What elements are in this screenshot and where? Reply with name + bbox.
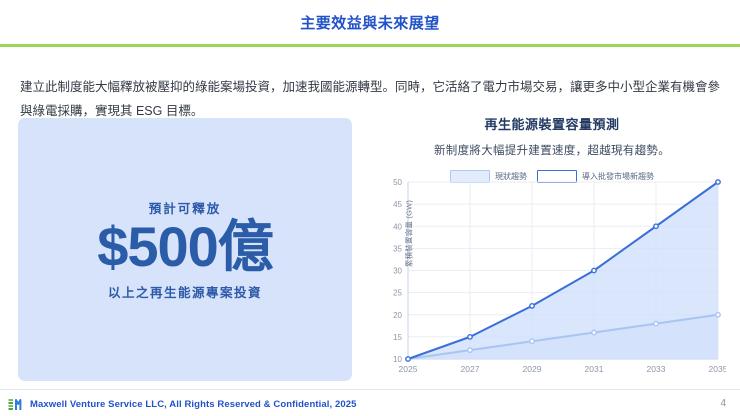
svg-text:45: 45 — [393, 200, 402, 209]
x-tick-labels: 202520272029203120332035 — [399, 364, 726, 374]
stat-value: $500億 — [97, 218, 273, 275]
page-number: 4 — [720, 398, 726, 409]
svg-text:30: 30 — [393, 267, 402, 276]
chart-panel: 再生能源裝置容量預測 新制度將大幅提升建置速度，超越現有趨勢。 現狀趨勢 導入批… — [378, 114, 726, 386]
svg-text:15: 15 — [393, 333, 402, 342]
footer-divider — [0, 389, 740, 390]
svg-text:2027: 2027 — [461, 364, 480, 374]
page-title: 主要效益與未來展望 — [0, 12, 740, 33]
svg-text:2029: 2029 — [523, 364, 542, 374]
svg-text:50: 50 — [393, 178, 402, 187]
company-logo-icon — [8, 398, 24, 412]
stat-caption-label: 以上之再生能源專案投資 — [108, 282, 262, 301]
svg-text:2035: 2035 — [709, 364, 726, 374]
chart-plot-area: 累積裝置容量 (GW) 101520253035404550 202520272… — [378, 176, 726, 381]
svg-text:40: 40 — [393, 222, 402, 231]
svg-text:35: 35 — [393, 244, 402, 253]
line-chart-svg: 101520253035404550 202520272029203120332… — [378, 176, 726, 381]
chart-title: 再生能源裝置容量預測 — [378, 114, 726, 133]
svg-text:2033: 2033 — [647, 364, 666, 374]
title-divider — [0, 44, 740, 47]
y-axis-title: 累積裝置容量 (GW) — [404, 179, 415, 289]
chart-subtitle: 新制度將大幅提升建置速度，超越現有趨勢。 — [378, 142, 726, 158]
svg-text:25: 25 — [393, 289, 402, 298]
highlight-stat-card: 預計可釋放 $500億 以上之再生能源專案投資 — [18, 118, 352, 381]
svg-text:2031: 2031 — [585, 364, 604, 374]
footer-copyright: Maxwell Venture Service LLC, All Rights … — [30, 399, 356, 410]
y-tick-labels: 101520253035404550 — [393, 178, 402, 364]
svg-text:10: 10 — [393, 355, 402, 364]
svg-text:2025: 2025 — [399, 364, 418, 374]
svg-text:20: 20 — [393, 311, 402, 320]
